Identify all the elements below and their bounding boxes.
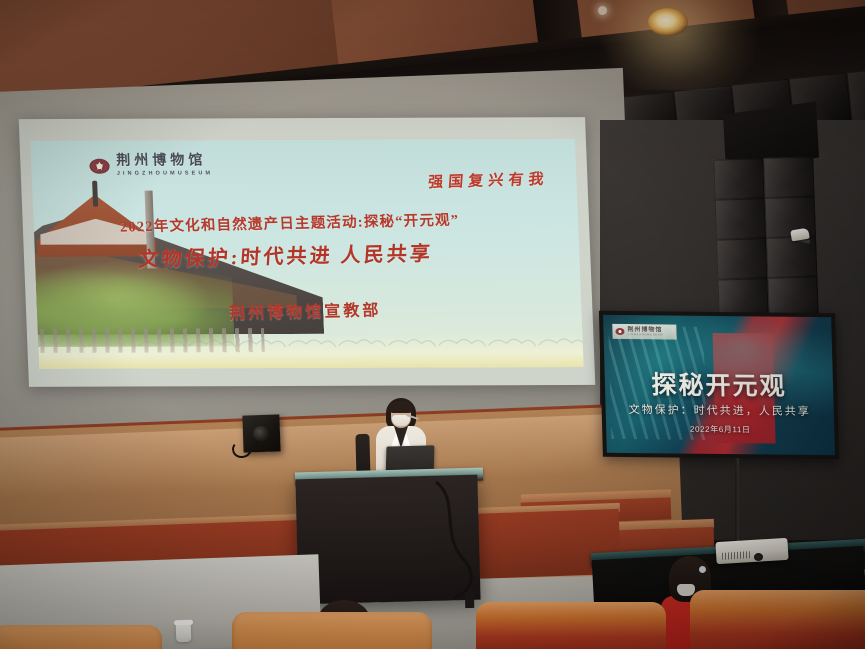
side-display-subtitle: 文物保护：时代共进，人民共享 xyxy=(628,401,811,419)
side-display: 荆州博物馆 JINGZHOUMUSEUM 探秘开元观 文物保护：时代共进，人民共… xyxy=(599,311,839,459)
paper-cup-lid xyxy=(174,620,193,626)
cloud-pattern-icon xyxy=(38,331,583,353)
audience-seat[interactable] xyxy=(690,590,865,649)
lecture-hall-photo: 荆州博物馆 JINGZHOUMUSEUM 强国复兴有我 2022年文化和自然遗产… xyxy=(0,0,865,649)
side-logo-en: JINGZHOUMUSEUM xyxy=(628,333,664,336)
side-display-date: 2022年6月11日 xyxy=(690,423,751,435)
side-display-logo: 荆州博物馆 JINGZHOUMUSEUM xyxy=(612,324,676,340)
museum-logo-en: JINGZHOUMUSEUM xyxy=(117,170,214,176)
museum-logo-mark-icon xyxy=(89,158,110,173)
slide-department: 荆州博物馆宣教部 xyxy=(229,296,382,323)
hair-clip-icon xyxy=(699,566,706,573)
audience-seat[interactable] xyxy=(476,602,666,649)
side-display-title: 探秘开元观 xyxy=(651,365,787,402)
slide-calligraphy: 强国复兴有我 xyxy=(427,168,549,193)
ceiling-downlight-icon xyxy=(648,8,688,36)
ceiling-spot-icon xyxy=(598,6,607,15)
audience-seat[interactable] xyxy=(232,612,432,649)
museum-logo-mark-icon xyxy=(615,328,624,335)
audience-seat[interactable] xyxy=(0,625,162,649)
projected-slide: 荆州博物馆 JINGZHOUMUSEUM 强国复兴有我 2022年文化和自然遗产… xyxy=(31,139,584,369)
side-display-slide: 荆州博物馆 JINGZHOUMUSEUM 探秘开元观 文物保护：时代共进，人民共… xyxy=(603,315,835,455)
projection-screen: 荆州博物馆 JINGZHOUMUSEUM 强国复兴有我 2022年文化和自然遗产… xyxy=(19,117,596,387)
floor-cable xyxy=(430,480,490,600)
museum-logo: 荆州博物馆 JINGZHOUMUSEUM xyxy=(89,154,213,176)
museum-logo-cn: 荆州博物馆 xyxy=(116,154,213,168)
stage-monitor-speaker xyxy=(242,414,280,452)
slide-title-line2: 文物保护:时代共进 人民共享 xyxy=(138,237,434,272)
